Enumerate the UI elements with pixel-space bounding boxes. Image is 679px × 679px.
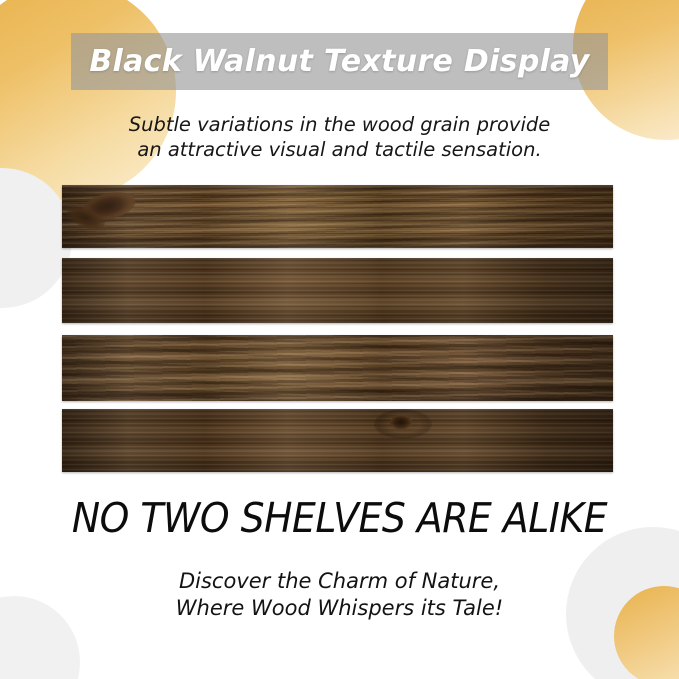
tagline-line-1: Discover the Charm of Nature, [0,568,679,595]
tagline: Discover the Charm of Nature, Where Wood… [0,568,679,622]
wood-plank-4 [62,409,613,472]
plank-4-mottling [62,409,613,472]
plank-3-mottling [62,335,613,401]
wood-plank-1 [62,185,613,248]
title-banner: Black Walnut Texture Display [71,33,608,90]
wood-plank-stack [62,185,613,472]
product-poster: Black Walnut Texture Display Subtle vari… [0,0,679,679]
subtitle-line-2: an attractive visual and tactile sensati… [0,137,679,162]
page-title: Black Walnut Texture Display [89,44,589,79]
headline: NO TWO SHELVES ARE ALIKE [27,494,652,542]
plank-1-mottling [62,185,613,248]
subtitle-line-1: Subtle variations in the wood grain prov… [0,112,679,137]
subtitle: Subtle variations in the wood grain prov… [0,112,679,162]
wood-plank-2 [62,258,613,323]
tagline-line-2: Where Wood Whispers its Tale! [0,595,679,622]
wood-plank-3 [62,335,613,401]
plank-2-mottling [62,258,613,323]
